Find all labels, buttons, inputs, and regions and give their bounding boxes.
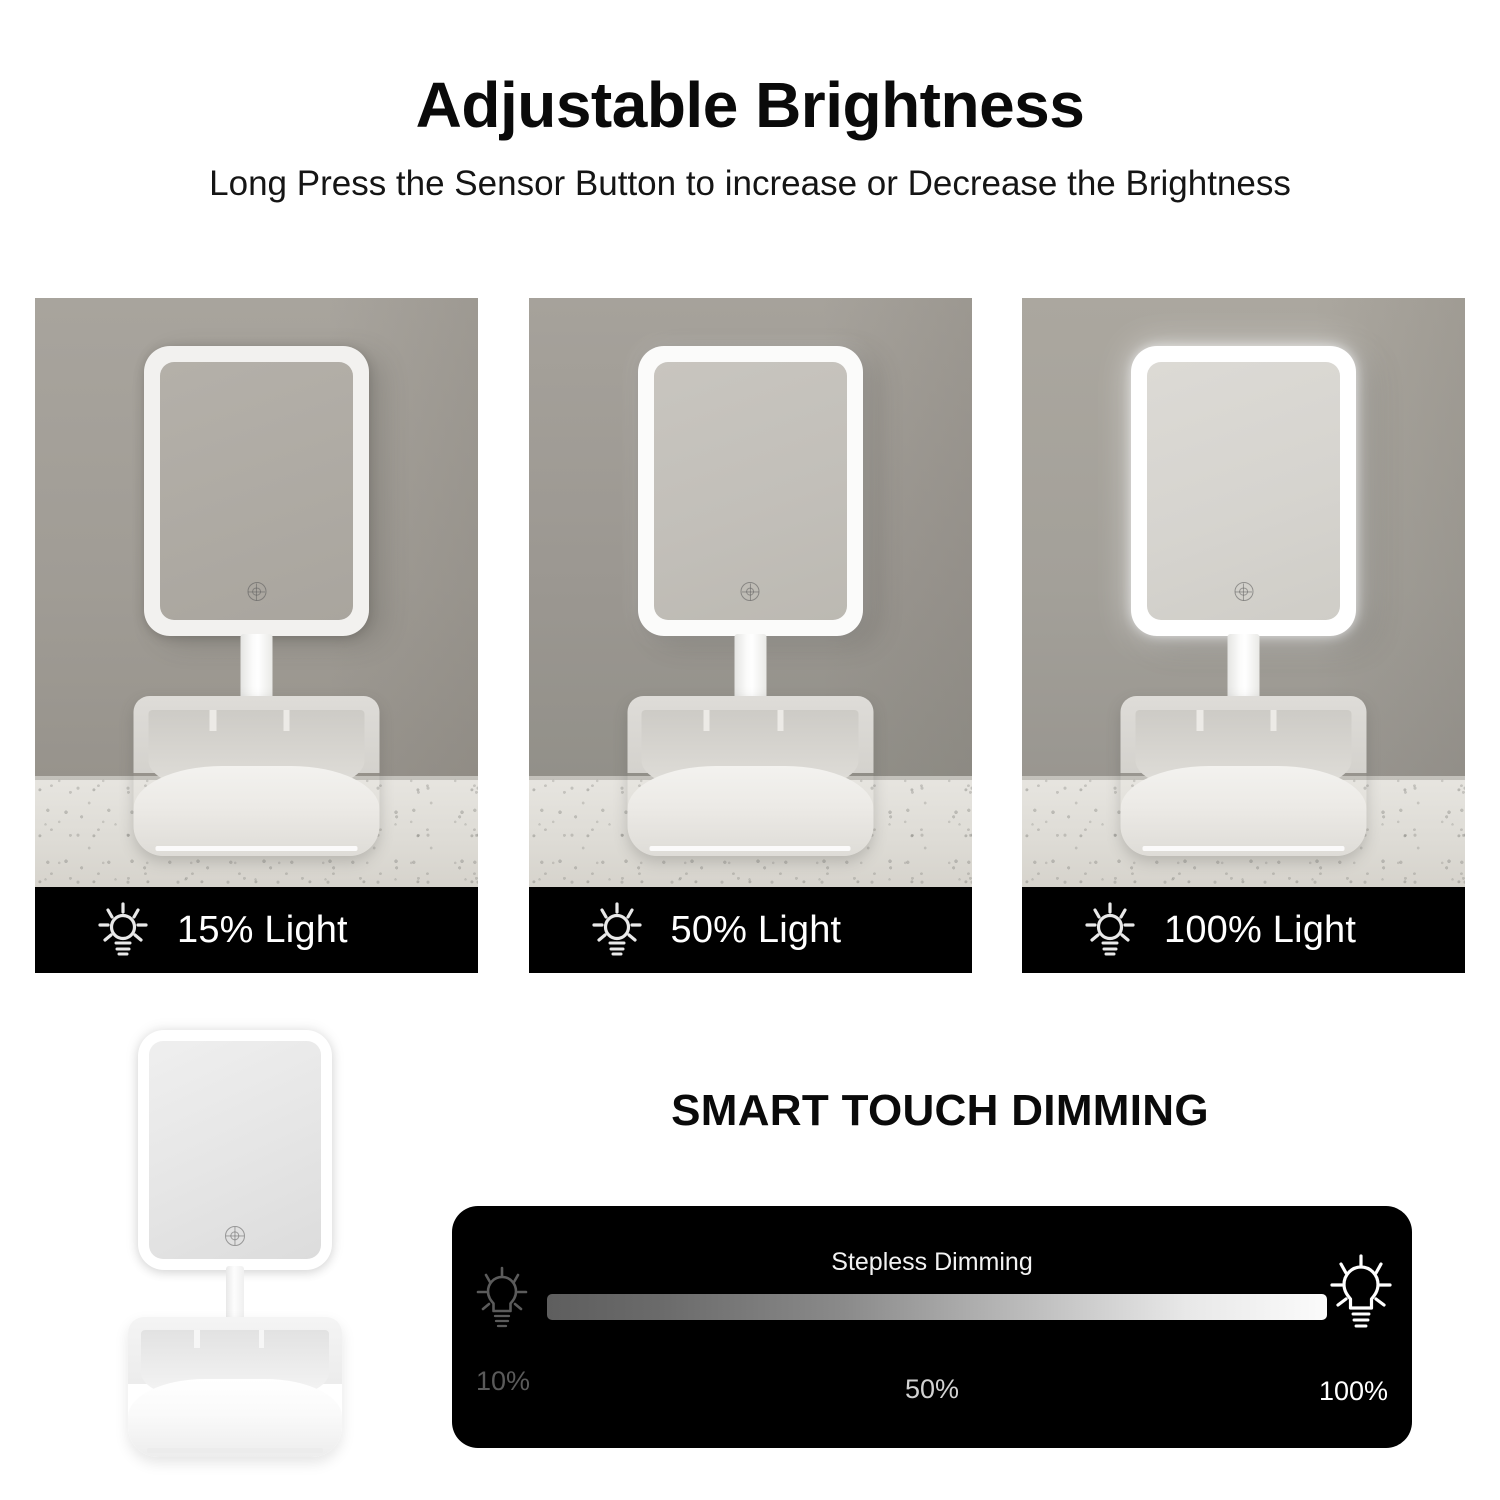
brightness-label-bar: 100% Light [1022, 887, 1465, 973]
product [1022, 298, 1465, 888]
storage-caddy [128, 1317, 342, 1457]
caddy-divider [1271, 710, 1277, 731]
mirror-frame [144, 346, 369, 636]
mirror-frame [638, 346, 863, 636]
caddy-divider [194, 1330, 200, 1348]
product [529, 298, 972, 888]
brightness-panel-15: 15% Light [35, 298, 478, 973]
sensor-button-icon[interactable] [247, 582, 266, 601]
caddy-divider [703, 710, 709, 731]
brightness-label: 100% Light [1164, 909, 1356, 952]
brightness-panel-50: 50% Light [529, 298, 972, 973]
mirror-frame [138, 1030, 332, 1270]
brightness-label: 50% Light [671, 909, 842, 952]
light-bulb-icon [591, 902, 643, 958]
sensor-button-icon[interactable] [1234, 582, 1253, 601]
sensor-cross [1243, 583, 1244, 600]
stepless-dimming-label: Stepless Dimming [452, 1248, 1412, 1277]
dimming-max-label: 100% [1319, 1376, 1388, 1407]
mirror-frame [1131, 346, 1356, 636]
brightness-label-bar: 50% Light [529, 887, 972, 973]
caddy-divider [210, 710, 216, 731]
light-bulb-icon [1084, 902, 1136, 958]
light-bulb-icon [97, 902, 149, 958]
sensor-button-icon[interactable] [225, 1226, 245, 1246]
caddy-front-panel [1121, 766, 1367, 856]
page-title: Adjustable Brightness [0, 0, 1500, 139]
dimming-heading: SMART TOUCH DIMMING [450, 1086, 1430, 1136]
dimming-panel: Stepless Dimming [452, 1206, 1412, 1448]
brightness-panels: 15% Light [35, 298, 1465, 973]
caddy-base-slot [1143, 846, 1345, 851]
brightness-label-bar: 15% Light [35, 887, 478, 973]
caddy-front-panel [627, 766, 873, 856]
sensor-cross [234, 1227, 235, 1245]
product-photo-100 [1022, 298, 1465, 888]
product-photo-15 [35, 298, 478, 888]
caddy-base-slot [147, 1448, 322, 1453]
dim-bulb-icon [474, 1264, 530, 1341]
sensor-cross [749, 583, 750, 600]
sensor-button-icon[interactable] [741, 582, 760, 601]
hero-product-image [110, 1022, 360, 1492]
product-photo-50 [529, 298, 972, 888]
caddy-front-panel [134, 766, 380, 856]
storage-caddy [134, 696, 380, 856]
header: Adjustable Brightness Long Press the Sen… [0, 0, 1500, 207]
page-subtitle: Long Press the Sensor Button to increase… [0, 139, 1500, 207]
storage-caddy [627, 696, 873, 856]
brightness-label: 15% Light [177, 909, 348, 952]
dimming-gradient-bar[interactable] [547, 1294, 1327, 1320]
caddy-divider [284, 710, 290, 731]
brightness-panel-100: 100% Light [1022, 298, 1465, 973]
dimming-mid-label: 50% [452, 1374, 1412, 1405]
caddy-front-panel [128, 1379, 342, 1457]
storage-caddy [1121, 696, 1367, 856]
caddy-base-slot [156, 846, 358, 851]
bright-bulb-icon [1328, 1252, 1394, 1341]
product [35, 298, 478, 888]
sensor-cross [256, 583, 257, 600]
caddy-divider [777, 710, 783, 731]
caddy-base-slot [649, 846, 851, 851]
caddy-divider [1197, 710, 1203, 731]
caddy-divider [259, 1330, 265, 1348]
